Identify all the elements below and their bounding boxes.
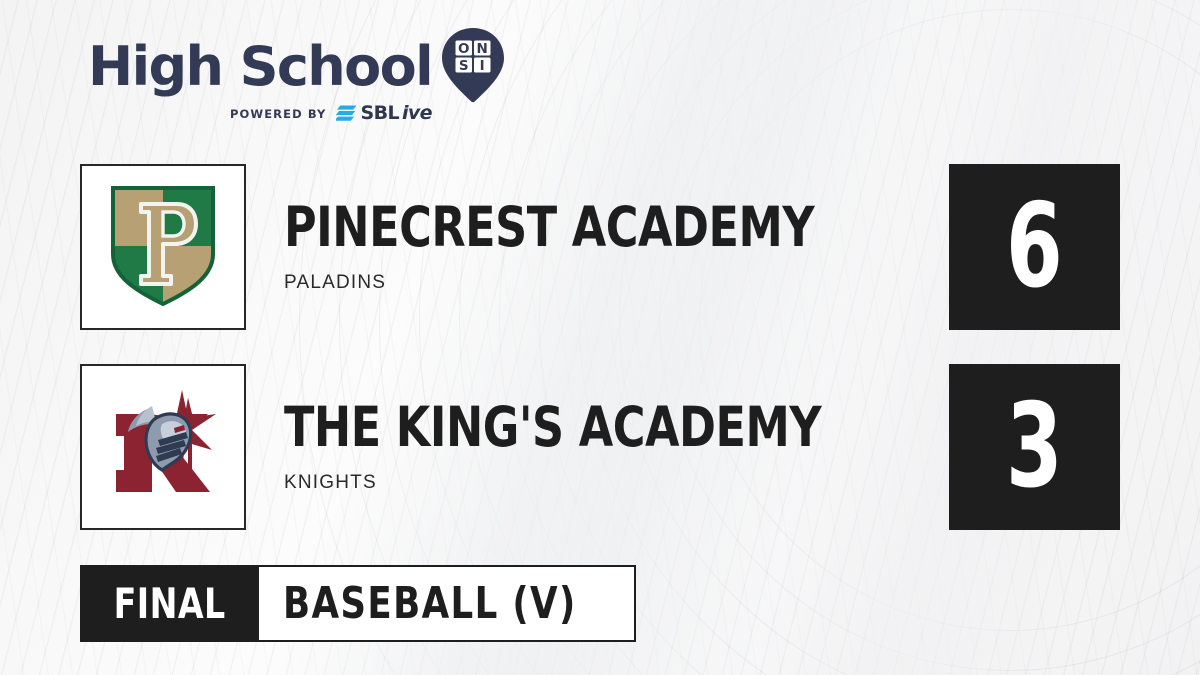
on-si-pin-icon: O N S I (440, 26, 506, 104)
team-logo-box (80, 364, 246, 530)
sblive-logo: SBL ive (336, 104, 432, 123)
team-info: PINECREST ACADEMY PALADINS (284, 200, 873, 294)
scoreboard-graphic: High School O N S I POWERED BY (0, 0, 1200, 675)
team-row: PINECREST ACADEMY PALADINS (80, 164, 873, 330)
team-score: 3 (1006, 389, 1063, 505)
team-logo-box (80, 164, 246, 330)
sport-badge: BASEBALL (V) (259, 565, 635, 642)
svg-text:S: S (459, 58, 469, 74)
sport-label: BASEBALL (V) (283, 582, 577, 626)
sblive-s-mark-icon (336, 104, 358, 123)
pinecrest-academy-logo-icon (107, 184, 219, 310)
game-state-badge: FINAL (80, 565, 259, 642)
powered-by-row: POWERED BY SBL ive (88, 104, 518, 123)
powered-by-label: POWERED BY (230, 107, 326, 121)
team-score: 6 (1006, 189, 1063, 305)
team-score-box: 6 (949, 164, 1120, 330)
the-kings-academy-logo-icon (100, 384, 226, 510)
team-info: THE KING'S ACADEMY KNIGHTS (284, 400, 881, 494)
sblive-wordmark-italic: ive (402, 104, 432, 123)
brand-wordmark: High School (88, 40, 432, 94)
sblive-wordmark: SBL (361, 104, 399, 123)
brand-logo: High School O N S I POWERED BY (88, 36, 518, 123)
team-row: THE KING'S ACADEMY KNIGHTS (80, 364, 881, 530)
team-name: THE KING'S ACADEMY (284, 400, 821, 455)
team-name: PINECREST ACADEMY (284, 200, 814, 255)
team-score-box: 3 (949, 364, 1120, 530)
game-status-bar: FINAL BASEBALL (V) (80, 565, 636, 642)
team-mascot: KNIGHTS (284, 472, 881, 494)
team-mascot: PALADINS (284, 272, 873, 294)
svg-text:I: I (480, 58, 485, 74)
svg-text:O: O (458, 41, 469, 57)
svg-text:N: N (477, 41, 488, 57)
game-state-label: FINAL (114, 583, 226, 625)
